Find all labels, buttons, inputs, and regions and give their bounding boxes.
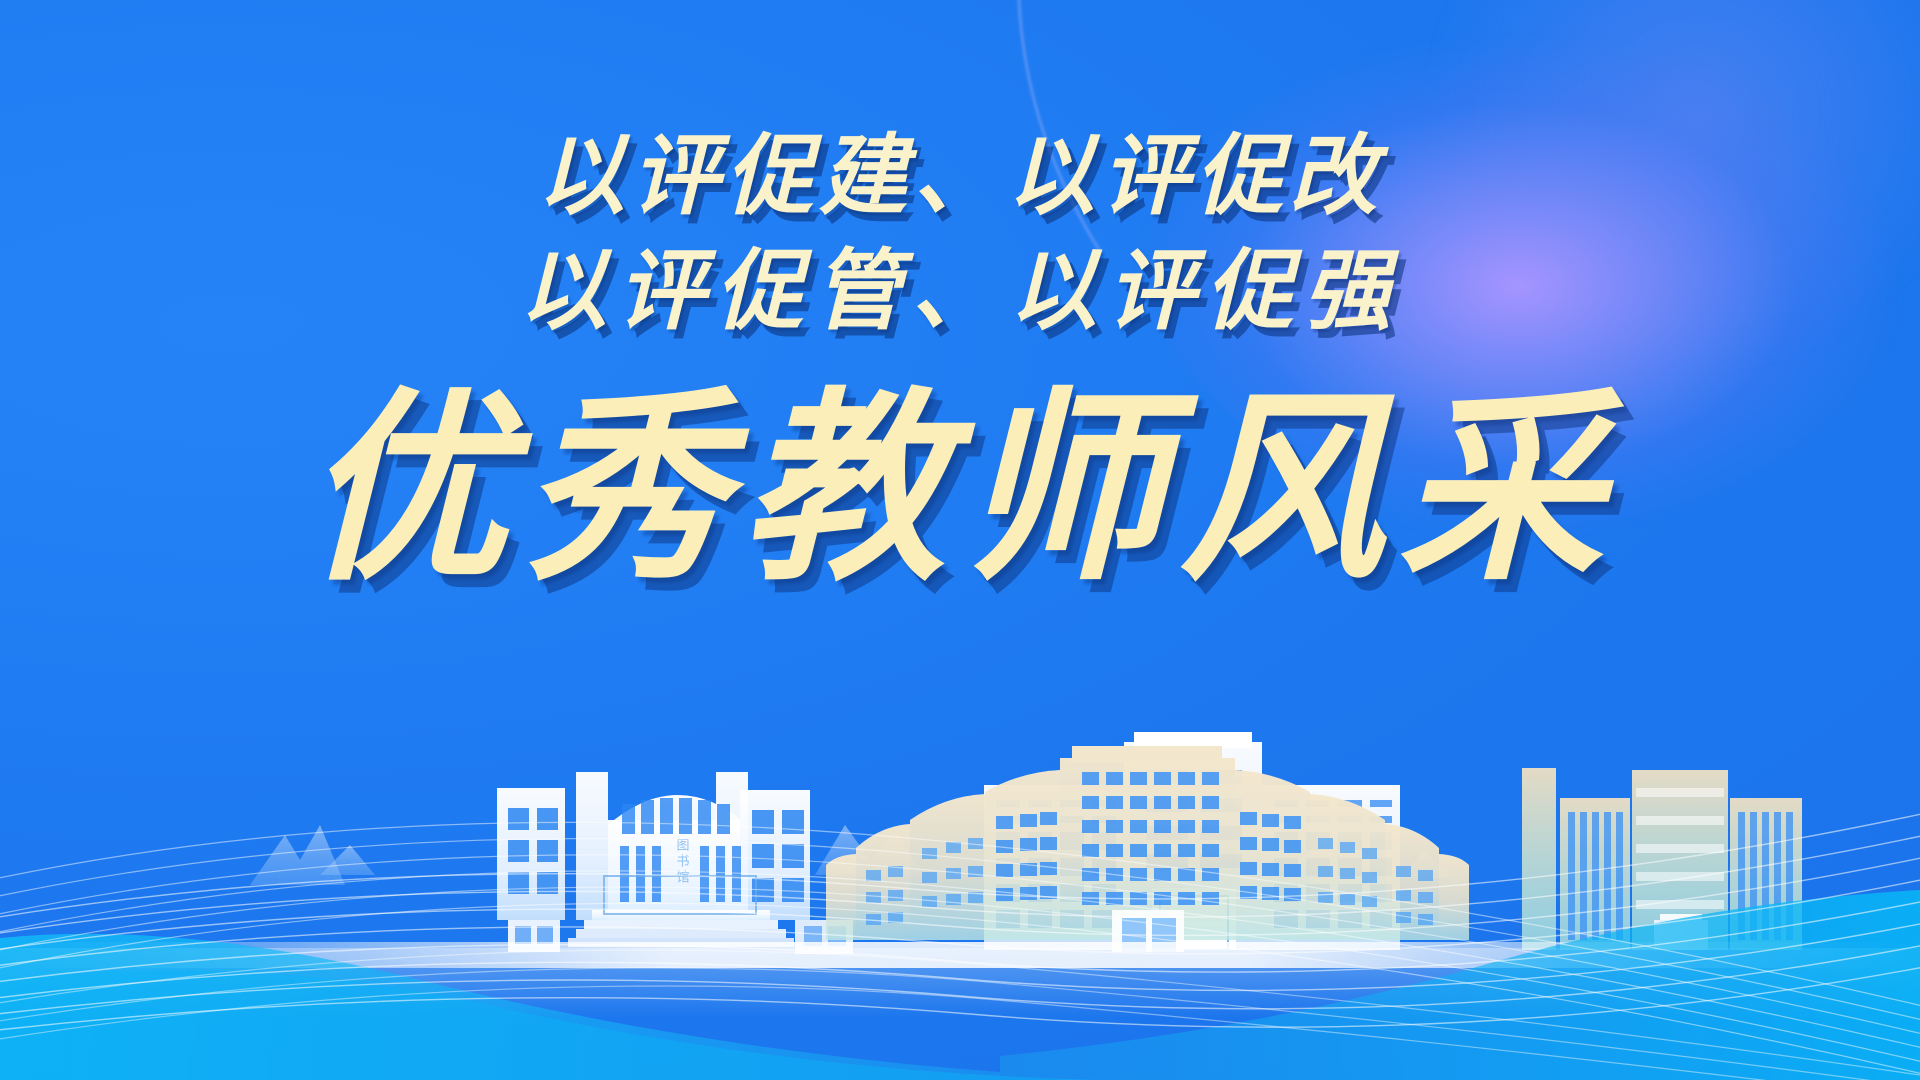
bottom-artwork: 图书馆 [0, 620, 1920, 1080]
subtitle-line-1: 以评促建、以评促改 [0, 118, 1920, 233]
main-curved-building [826, 746, 1469, 952]
poster-canvas: 以评促建、以评促改 以评促管、以评促强 优秀教师风采 [0, 0, 1920, 1080]
poster-subtitle: 以评促建、以评促改 以评促管、以评促强 [0, 118, 1920, 348]
library-label: 图书馆 [674, 838, 690, 886]
poster-main-title: 优秀教师风采 [0, 382, 1920, 597]
subtitle-line-2: 以评促管、以评促强 [0, 233, 1920, 348]
